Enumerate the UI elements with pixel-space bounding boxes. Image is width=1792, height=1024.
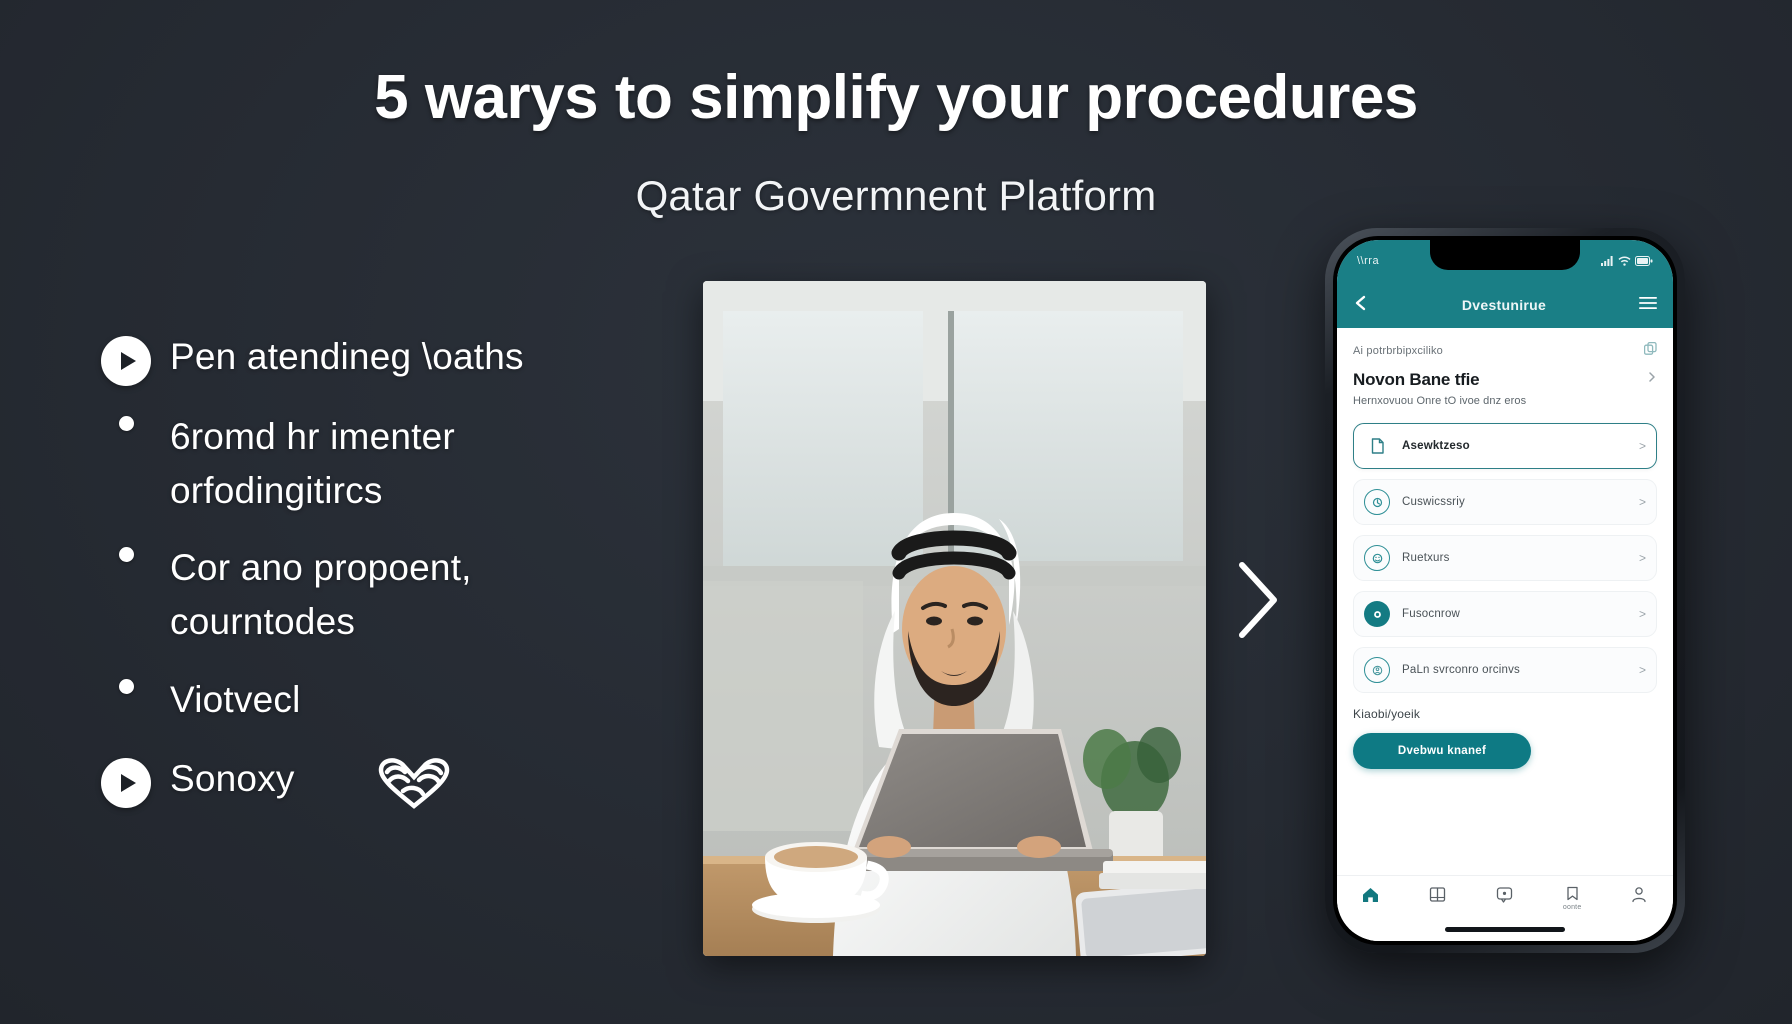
bullet-list: Pen atendineg \oaths 6romd hr imenter or… xyxy=(96,330,656,839)
chevron-right-icon: > xyxy=(1639,439,1646,453)
list-item-text: Sonoxy xyxy=(156,752,295,806)
list-item: 6romd hr imenter orfodingitircs xyxy=(96,410,656,517)
play-triangle-icon xyxy=(121,774,136,792)
tab-bookmark[interactable]: oonte xyxy=(1543,886,1601,911)
tab-chat[interactable] xyxy=(1476,886,1534,906)
list-item-text: Cor ano propoent, courntodes xyxy=(156,541,472,648)
chevron-right-icon: > xyxy=(1639,607,1646,621)
list-row-label: Fusocnrow xyxy=(1402,608,1639,620)
chevron-right-icon: > xyxy=(1639,495,1646,509)
list-row[interactable]: Ruetxurs > xyxy=(1353,535,1657,581)
home-icon xyxy=(1361,886,1380,904)
tab-label: oonte xyxy=(1563,904,1582,911)
app-bar-title: Dvestunirue xyxy=(1369,297,1639,313)
list-item-line1: 6romd hr imenter xyxy=(170,416,455,457)
tab-book[interactable] xyxy=(1409,886,1467,906)
photo-man-working-on-laptop xyxy=(703,281,1206,956)
primary-cta-button[interactable]: Dvebwu knanef xyxy=(1353,733,1531,769)
app-bar: Dvestunirue xyxy=(1337,282,1673,328)
card-header: Novon Bane tfie Hernxovuou Onre tO ivoe … xyxy=(1353,370,1657,407)
person-icon xyxy=(1631,886,1647,903)
copy-icon[interactable] xyxy=(1644,342,1657,360)
list-row-label: Cuswicssriy xyxy=(1402,496,1639,508)
chevron-right-icon xyxy=(1228,555,1288,645)
list-item: Pen atendineg \oaths xyxy=(96,330,656,386)
play-circle-icon xyxy=(101,758,151,808)
list-row[interactable]: Cuswicssriy > xyxy=(1353,479,1657,525)
page-title: 5 warys to simplify your procedures xyxy=(0,62,1792,133)
service-list: Asewktzeso > Cuswicssriy > xyxy=(1353,423,1657,693)
bullet-dot-icon xyxy=(119,547,134,562)
bullet-marker xyxy=(96,673,156,694)
chevron-right-icon: > xyxy=(1639,551,1646,565)
list-item-line1: Cor ano propoent, xyxy=(170,547,472,588)
section-label: Kiaobi/yoeik xyxy=(1353,707,1657,721)
status-icons xyxy=(1601,256,1653,266)
list-item-text: 6romd hr imenter orfodingitircs xyxy=(156,410,455,517)
list-item-line1: Viotvecl xyxy=(170,679,301,720)
bullet-dot-icon xyxy=(119,679,134,694)
phone-screen: \\rra xyxy=(1337,240,1673,941)
bullet-marker xyxy=(96,541,156,562)
list-row-label: PaLn svrconro orcinvs xyxy=(1402,664,1639,676)
phone-notch xyxy=(1430,240,1580,270)
chevron-left-icon[interactable] xyxy=(1353,294,1369,317)
page-subtitle: Qatar Govermnent Platform xyxy=(0,172,1792,220)
list-item-line2: courntodes xyxy=(170,595,472,649)
smiley-circle-icon xyxy=(1364,545,1390,571)
list-item-text: Pen atendineg \oaths xyxy=(156,330,524,384)
list-row-label: Ruetxurs xyxy=(1402,552,1639,564)
bullet-marker xyxy=(96,330,156,386)
list-item: Viotvecl xyxy=(96,673,656,727)
clock-circle-icon xyxy=(1364,489,1390,515)
presentation-slide: 5 warys to simplify your procedures Qata… xyxy=(0,0,1792,1024)
play-triangle-icon xyxy=(121,352,136,370)
bullet-marker xyxy=(96,752,156,808)
tab-home[interactable] xyxy=(1342,886,1400,907)
list-row[interactable]: Fusocnrow > xyxy=(1353,591,1657,637)
bullet-marker xyxy=(96,410,156,431)
phone-mockup: \\rra xyxy=(1325,228,1685,953)
screen-content: Ai potrbrbipxciliko Novon Bane tfie Hern… xyxy=(1337,328,1673,875)
chevron-right-icon[interactable] xyxy=(1647,370,1657,388)
home-indicator xyxy=(1445,927,1565,932)
heart-scribble-icon xyxy=(375,754,453,815)
list-item-line1: Sonoxy xyxy=(170,758,295,799)
eyebrow-row: Ai potrbrbipxciliko xyxy=(1353,342,1657,360)
chevron-right-icon: > xyxy=(1639,663,1646,677)
list-item-text: Viotvecl xyxy=(156,673,301,727)
battery-icon xyxy=(1635,256,1653,266)
list-row[interactable]: PaLn svrconro orcinvs > xyxy=(1353,647,1657,693)
card-header-text: Novon Bane tfie Hernxovuou Onre tO ivoe … xyxy=(1353,370,1647,407)
bookmark-icon xyxy=(1565,886,1580,901)
card-subtitle: Hernxovuou Onre tO ivoe dnz eros xyxy=(1353,395,1647,407)
chat-icon xyxy=(1496,886,1513,903)
list-item: Cor ano propoent, courntodes xyxy=(96,541,656,648)
list-item-line2: orfodingitircs xyxy=(170,464,455,518)
status-time: \\rra xyxy=(1357,255,1379,267)
tab-profile[interactable] xyxy=(1610,886,1668,906)
list-item: Sonoxy xyxy=(96,752,656,815)
hamburger-menu-icon[interactable] xyxy=(1639,296,1657,315)
check-circle-filled-icon xyxy=(1364,601,1390,627)
person-circle-icon xyxy=(1364,657,1390,683)
phone-bezel: \\rra xyxy=(1333,236,1677,945)
book-icon xyxy=(1429,886,1446,903)
document-icon xyxy=(1364,433,1390,459)
list-row-label: Asewktzeso xyxy=(1402,440,1639,452)
card-title: Novon Bane tfie xyxy=(1353,370,1647,390)
signal-icon xyxy=(1601,256,1614,266)
list-item-line1: Pen atendineg \oaths xyxy=(170,336,524,377)
eyebrow-label: Ai potrbrbipxciliko xyxy=(1353,345,1443,357)
play-circle-icon xyxy=(101,336,151,386)
bullet-dot-icon xyxy=(119,416,134,431)
wifi-icon xyxy=(1618,256,1631,266)
list-row[interactable]: Asewktzeso > xyxy=(1353,423,1657,469)
